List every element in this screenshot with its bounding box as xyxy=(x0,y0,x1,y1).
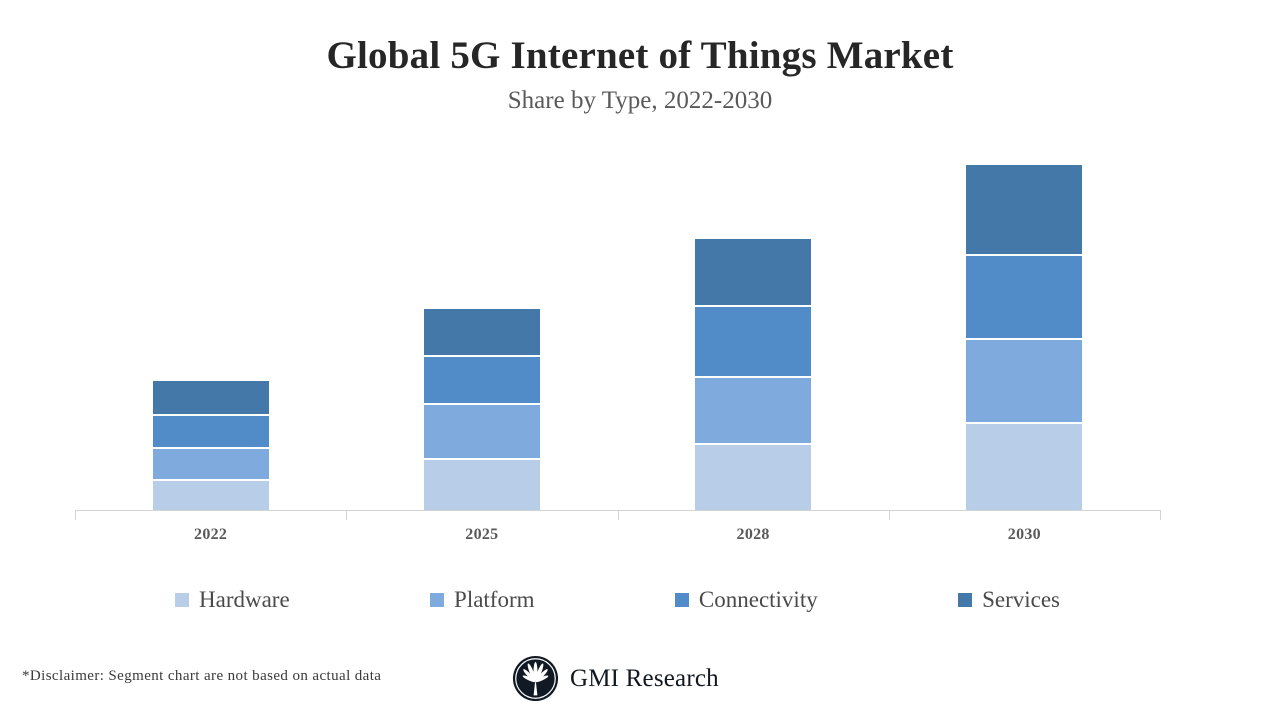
x-axis-tick xyxy=(346,510,347,520)
bar-stack xyxy=(424,309,540,510)
disclaimer-text: *Disclaimer: Segment chart are not based… xyxy=(22,668,381,685)
chart-subtitle: Share by Type, 2022-2030 xyxy=(0,87,1280,115)
bar-segment xyxy=(153,449,269,481)
legend-item-connectivity[interactable]: Connectivity xyxy=(675,588,818,611)
legend-label: Hardware xyxy=(199,588,290,611)
bar-segment xyxy=(424,460,540,510)
x-axis-tick xyxy=(618,510,619,520)
x-axis-tick xyxy=(1160,510,1161,520)
brand-name: GMI Research xyxy=(570,666,719,691)
legend-item-services[interactable]: Services xyxy=(958,588,1060,611)
bar-stack xyxy=(966,165,1082,510)
x-axis-tick xyxy=(889,510,890,520)
bar-stack xyxy=(153,381,269,510)
gmi-palm-logo-icon xyxy=(512,655,559,702)
legend-label: Services xyxy=(982,588,1060,611)
x-axis-label-2025: 2025 xyxy=(346,526,617,544)
brand-logo: GMI Research xyxy=(512,655,719,702)
bar-segment xyxy=(695,307,811,378)
bar-segment xyxy=(424,405,540,460)
chart-title: Global 5G Internet of Things Market xyxy=(0,34,1280,78)
bar-segment xyxy=(695,378,811,445)
legend-swatch-icon xyxy=(430,593,444,607)
x-axis-tick xyxy=(75,510,76,520)
bar-segment xyxy=(153,381,269,416)
bar-segment xyxy=(966,424,1082,510)
legend-label: Platform xyxy=(454,588,535,611)
bar-segment xyxy=(966,165,1082,256)
bar-stack xyxy=(695,239,811,510)
plot-area xyxy=(75,160,1160,510)
legend-swatch-icon xyxy=(958,593,972,607)
chart-header: Global 5G Internet of Things Market Shar… xyxy=(0,34,1280,115)
chart-legend: HardwarePlatformConnectivityServices xyxy=(75,588,1160,611)
bar-segment xyxy=(695,239,811,307)
bar-segment xyxy=(153,416,269,450)
bar-segment xyxy=(966,256,1082,340)
bar-segment xyxy=(966,340,1082,424)
x-axis-label-2030: 2030 xyxy=(889,526,1160,544)
bar-segment xyxy=(424,309,540,357)
legend-swatch-icon xyxy=(675,593,689,607)
bar-segment xyxy=(695,445,811,510)
legend-swatch-icon xyxy=(175,593,189,607)
x-axis-label-2022: 2022 xyxy=(75,526,346,544)
legend-item-hardware[interactable]: Hardware xyxy=(175,588,290,611)
legend-item-platform[interactable]: Platform xyxy=(430,588,535,611)
legend-label: Connectivity xyxy=(699,588,818,611)
bar-segment xyxy=(424,357,540,405)
bar-segment xyxy=(153,481,269,510)
x-axis-label-2028: 2028 xyxy=(618,526,889,544)
chart-figure: Global 5G Internet of Things Market Shar… xyxy=(0,0,1280,720)
